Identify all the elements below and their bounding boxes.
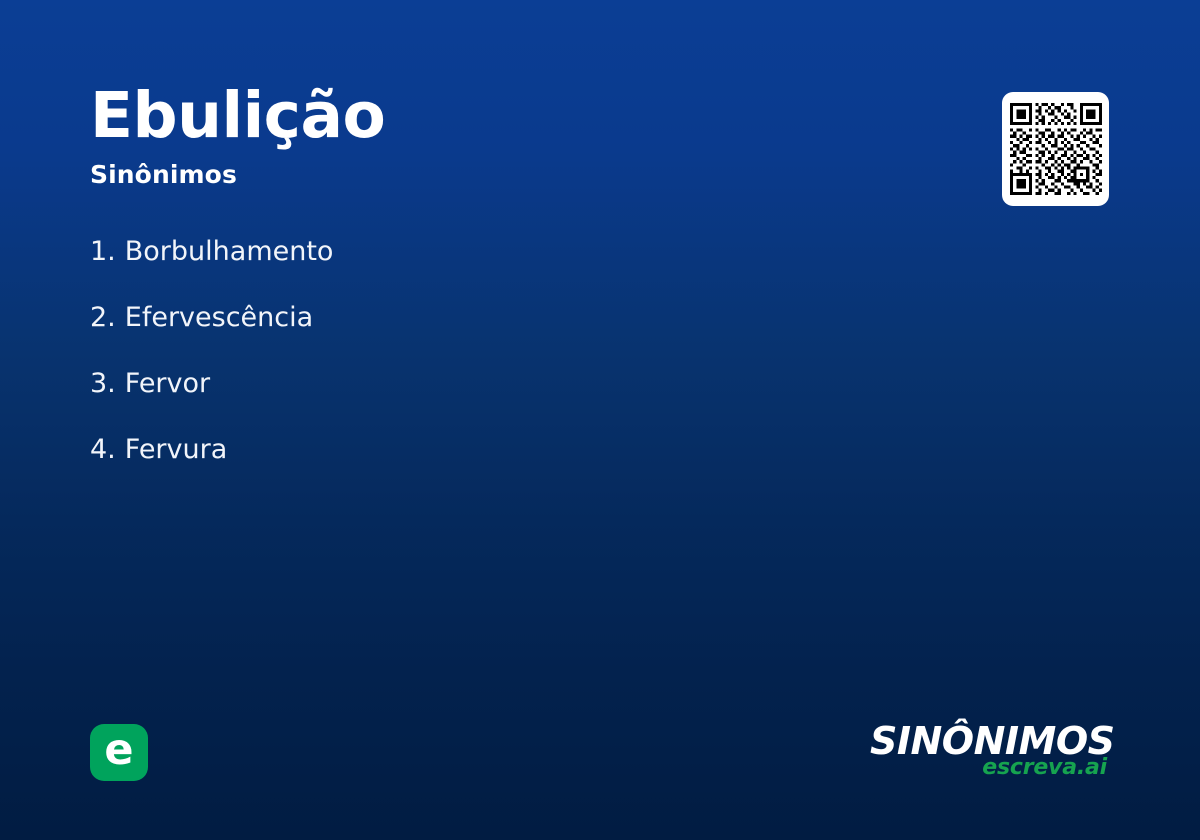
list-item-label: Borbulhamento — [125, 238, 334, 265]
list-item-label: Efervescência — [125, 304, 313, 331]
list-item: 4. Fervura — [90, 436, 890, 502]
list-item: 2. Efervescência — [90, 304, 890, 370]
list-item-index: 4. — [90, 436, 116, 463]
escreva-app-icon: e — [90, 724, 148, 781]
qr-code-icon — [1010, 103, 1102, 195]
list-item-label: Fervor — [125, 370, 210, 397]
list-item: 3. Fervor — [90, 370, 890, 436]
list-item-index: 2. — [90, 304, 116, 331]
synonym-list: 1. Borbulhamento 2. Efervescência 3. Fer… — [90, 238, 890, 502]
escreva-app-icon-letter: e — [104, 729, 133, 772]
list-item-label: Fervura — [125, 436, 228, 463]
page-title: Ebulição — [90, 84, 850, 147]
header: Ebulição Sinônimos — [90, 84, 850, 189]
synonym-card: Ebulição Sinônimos — [0, 0, 1200, 840]
qr-code-panel[interactable] — [1002, 92, 1109, 206]
list-item-index: 1. — [90, 238, 116, 265]
page-subtitle: Sinônimos — [90, 161, 850, 189]
list-item-index: 3. — [90, 370, 116, 397]
brand-lockup: SINÔNIMOS escreva.ai — [870, 722, 1110, 779]
list-item: 1. Borbulhamento — [90, 238, 890, 304]
